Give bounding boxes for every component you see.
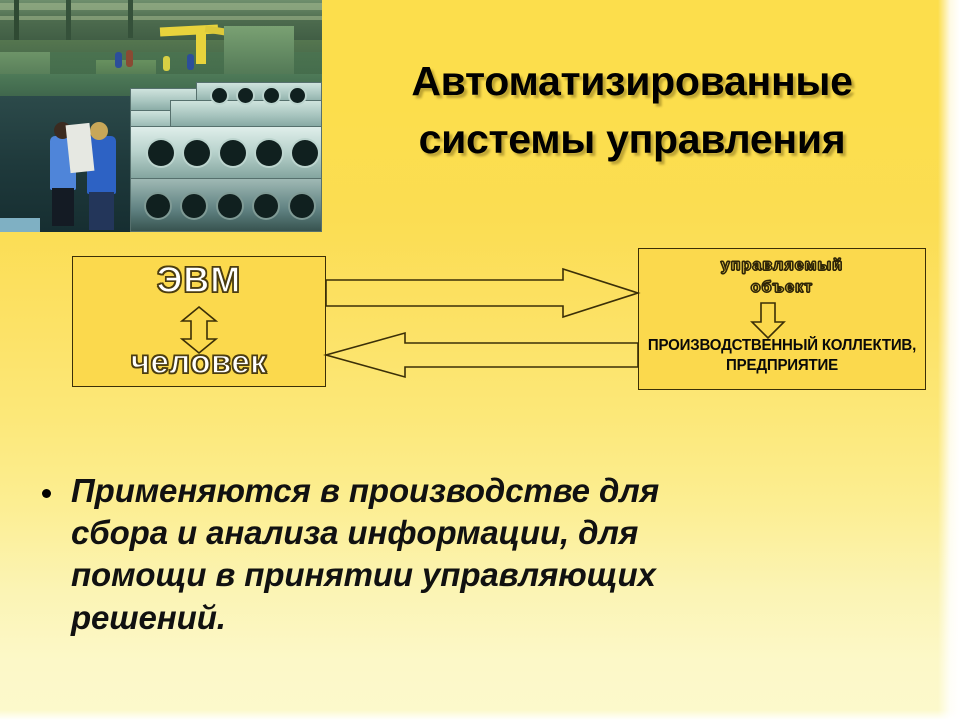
right-margin-strip — [938, 0, 960, 720]
title-line-2: системы управления — [330, 110, 934, 168]
controlled-object-label-line-1: управляемый — [638, 255, 926, 277]
photo-distant-worker — [187, 54, 194, 70]
photo-cylinder-bore — [182, 194, 206, 218]
human-label: человек — [72, 343, 326, 381]
photo-ceiling-strut — [66, 0, 71, 40]
photo-foreground-bench — [0, 218, 40, 232]
title-line-1: Автоматизированные — [330, 52, 934, 110]
photo-yellow-crane-post — [196, 30, 206, 64]
factory-floor-photo — [0, 0, 322, 232]
photo-distant-worker — [126, 50, 133, 67]
photo-worker-right-head — [90, 122, 108, 140]
photo-cylinder-bore — [238, 88, 253, 103]
bullet-list: Применяются в производстве для сбора и а… — [42, 470, 702, 639]
photo-worker-left-legs — [52, 188, 74, 226]
controlled-object-label-line-2: объект — [638, 277, 926, 299]
photo-cylinder-bore — [148, 140, 174, 166]
photo-blueprint-sheet — [66, 123, 95, 173]
arrow-right-to-left — [326, 333, 638, 377]
photo-cylinder-bore — [292, 140, 318, 166]
production-collective-line-2: ПРЕДПРИЯТИЕ — [642, 356, 921, 376]
photo-cylinder-bore — [256, 140, 282, 166]
slide: Автоматизированные системы управления ЭВ… — [0, 0, 960, 720]
photo-cylinder-bore — [146, 194, 170, 218]
photo-cylinder-bore — [218, 194, 242, 218]
production-collective-label: ПРОИЗВОДСТВЕННЫЙ КОЛЛЕКТИВ, ПРЕДПРИЯТИЕ — [642, 336, 921, 377]
photo-cylinder-bore — [184, 140, 210, 166]
bullet-item-text: Применяются в производстве для сбора и а… — [71, 470, 702, 639]
photo-cylinder-bore — [264, 88, 279, 103]
photo-cylinder-bore — [220, 140, 246, 166]
photo-cylinder-bore — [254, 194, 278, 218]
bottom-margin-strip — [0, 710, 960, 720]
bullet-marker-icon — [42, 489, 51, 498]
photo-beam — [0, 3, 322, 10]
photo-ceiling-strut — [14, 0, 19, 44]
page-title: Автоматизированные системы управления — [330, 52, 934, 168]
photo-worker-right-legs — [89, 192, 114, 230]
production-collective-line-1: ПРОИЗВОДСТВЕННЫЙ КОЛЛЕКТИВ, — [642, 336, 921, 356]
computer-label: ЭВМ — [72, 259, 326, 301]
photo-distant-worker — [115, 52, 122, 68]
photo-beam — [0, 16, 322, 20]
photo-cylinder-bore — [290, 194, 314, 218]
photo-cylinder-bore — [212, 88, 227, 103]
arrow-left-to-right — [326, 269, 638, 317]
photo-ceiling-strut — [128, 0, 133, 38]
photo-distant-worker — [163, 56, 170, 71]
controlled-object-label: управляемый объект — [638, 255, 926, 298]
photo-cylinder-bore — [290, 88, 305, 103]
